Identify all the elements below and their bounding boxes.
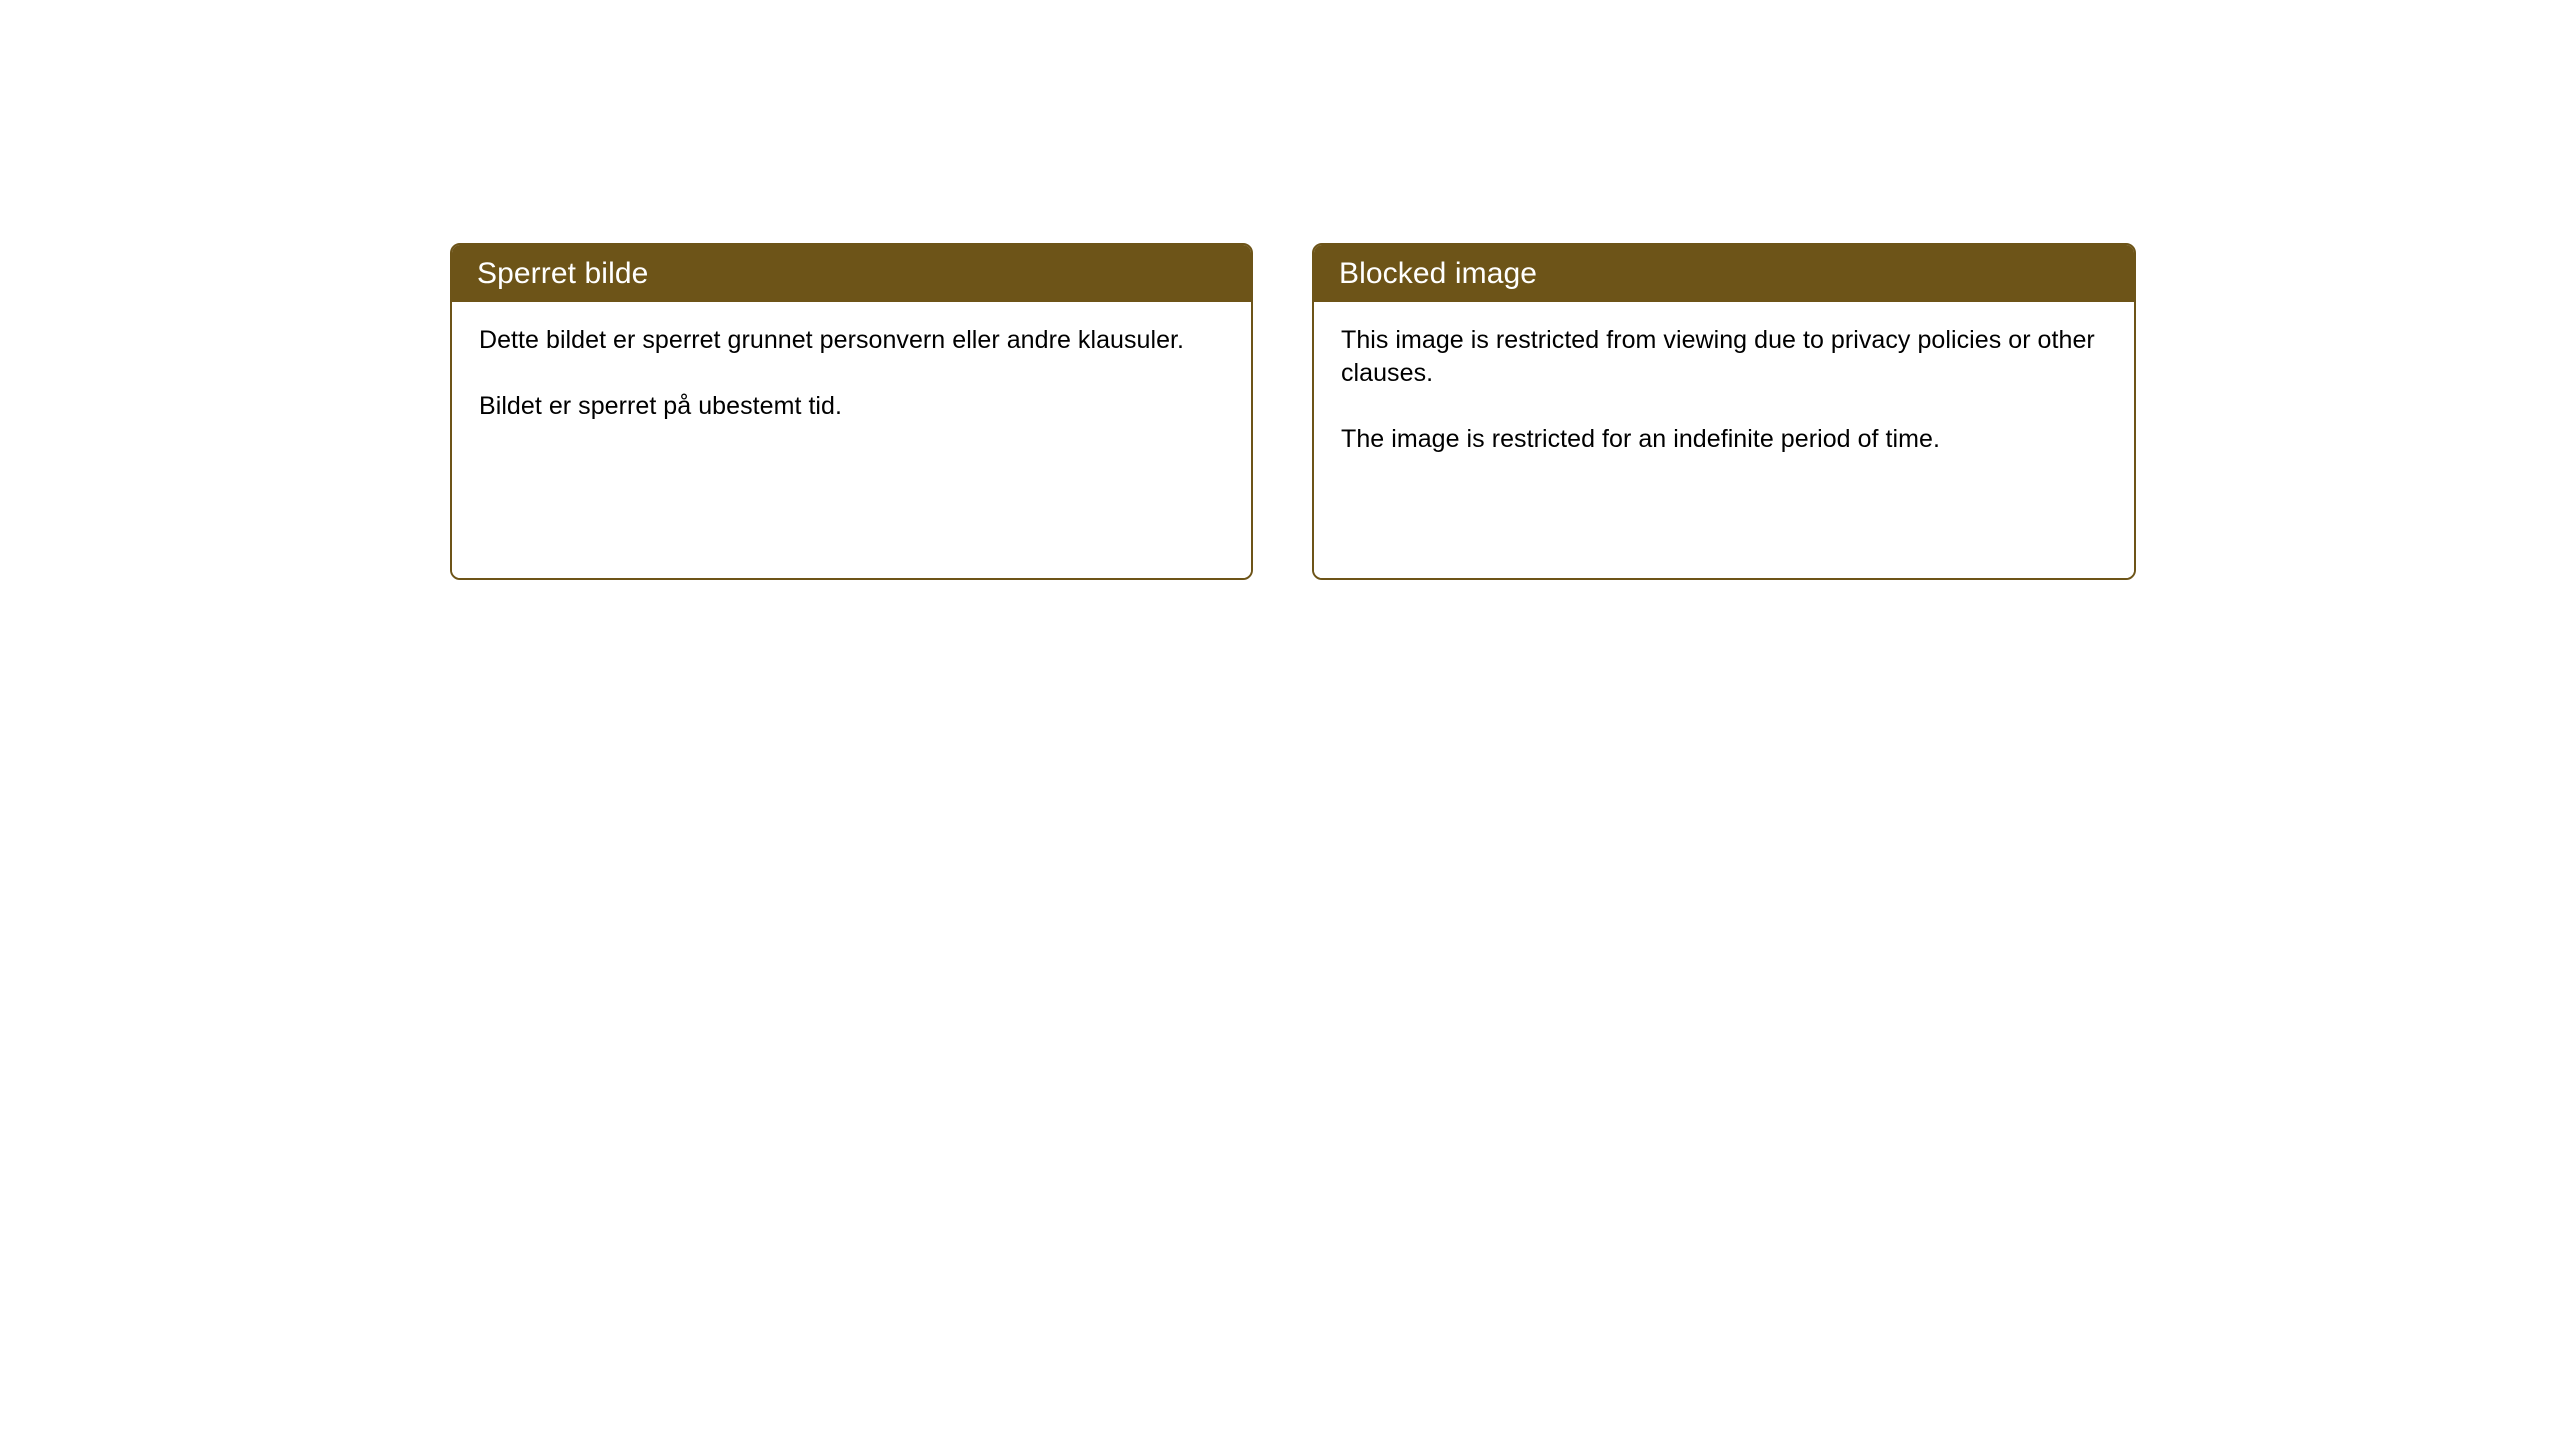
page-canvas: Sperret bilde Dette bildet er sperret gr… xyxy=(0,0,2560,1440)
notice-paragraph-reason-no: Dette bildet er sperret grunnet personve… xyxy=(479,324,1225,357)
notice-paragraph-duration-en: The image is restricted for an indefinit… xyxy=(1341,423,2108,456)
blocked-image-notice-no: Sperret bilde Dette bildet er sperret gr… xyxy=(450,243,1253,580)
notice-title-no: Sperret bilde xyxy=(477,257,648,291)
notice-paragraph-reason-en: This image is restricted from viewing du… xyxy=(1341,324,2108,390)
blocked-image-notice-en: Blocked image This image is restricted f… xyxy=(1312,243,2136,580)
notice-title-en: Blocked image xyxy=(1339,257,1537,291)
notice-body-no: Dette bildet er sperret grunnet personve… xyxy=(452,302,1251,578)
notice-paragraph-duration-no: Bildet er sperret på ubestemt tid. xyxy=(479,390,1225,423)
notice-header-en: Blocked image xyxy=(1314,245,2134,302)
notice-body-en: This image is restricted from viewing du… xyxy=(1314,302,2134,578)
notice-header-no: Sperret bilde xyxy=(452,245,1251,302)
